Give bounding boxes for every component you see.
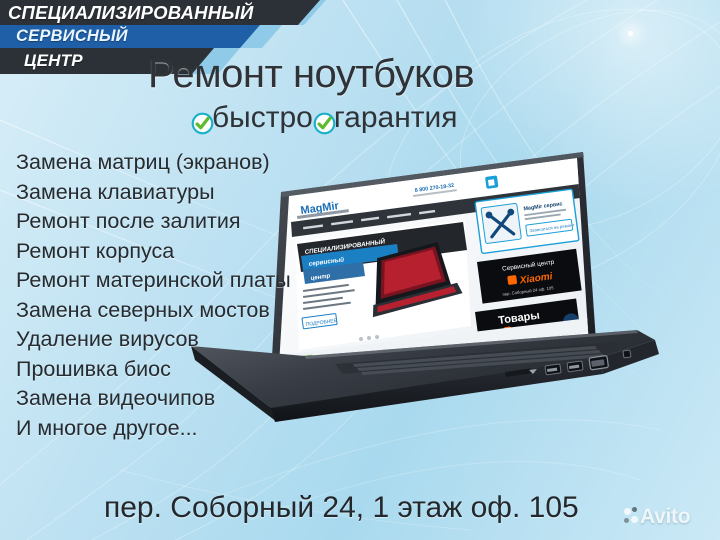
check-circle-icon bbox=[191, 109, 214, 132]
ribbon-line-1: СПЕЦИАЛИЗИРОВАННЫЙ bbox=[8, 2, 253, 24]
avito-watermark: Avito bbox=[624, 505, 690, 529]
list-item: Прошивка биос bbox=[16, 355, 291, 385]
avito-watermark-label: Avito bbox=[640, 505, 690, 529]
list-item: Замена матриц (экранов) bbox=[16, 148, 291, 178]
list-item: Ремонт материнской платы bbox=[16, 266, 291, 296]
list-item: И многое другое... bbox=[16, 414, 291, 444]
ribbon-band-specialized: СПЕЦИАЛИЗИРОВАННЫЙ bbox=[0, 0, 320, 25]
benefit-fast-label: быстро bbox=[212, 101, 313, 135]
benefits-row: быстро гарантия bbox=[191, 101, 458, 135]
check-circle-icon bbox=[313, 109, 336, 132]
ribbon-band-service: СЕРВИСНЫЙ bbox=[0, 25, 260, 48]
list-item: Ремонт корпуса bbox=[16, 237, 291, 267]
list-item: Замена видеочипов bbox=[16, 384, 291, 414]
list-item: Удаление вирусов bbox=[16, 325, 291, 355]
list-item: Замена клавиатуры bbox=[16, 178, 291, 208]
ribbon-line-3: ЦЕНТР bbox=[24, 51, 83, 71]
list-item: Замена северных мостов bbox=[16, 296, 291, 326]
avito-logo-icon bbox=[624, 507, 637, 527]
address-text: пер. Соборный 24, 1 этаж оф. 105 bbox=[104, 491, 579, 525]
page-title: Ремонт ноутбуков bbox=[148, 52, 474, 97]
services-list: Замена матриц (экранов) Замена клавиатур… bbox=[16, 148, 291, 443]
light-sparkle-icon bbox=[626, 29, 635, 38]
list-item: Ремонт после залития bbox=[16, 207, 291, 237]
ribbon-line-2: СЕРВИСНЫЙ bbox=[16, 27, 128, 46]
benefit-warranty-label: гарантия bbox=[334, 101, 458, 135]
advertisement-poster: СПЕЦИАЛИЗИРОВАННЫЙ СЕРВИСНЫЙ ЦЕНТР Ремон… bbox=[0, 0, 720, 540]
